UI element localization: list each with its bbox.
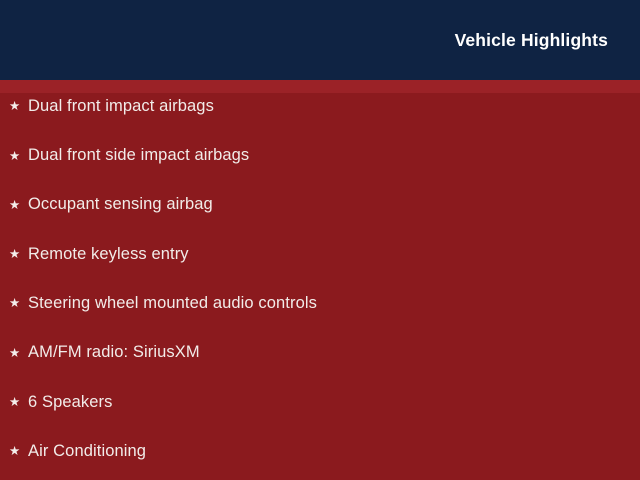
list-item-label: Occupant sensing airbag <box>28 196 213 213</box>
page-title: Vehicle Highlights <box>455 32 608 50</box>
list-item: ★Occupant sensing airbag <box>9 194 213 216</box>
star-bullet-icon: ★ <box>9 150 28 163</box>
star-bullet-icon: ★ <box>9 396 28 409</box>
list-item-label: Dual front side impact airbags <box>28 147 249 164</box>
list-item: ★Steering wheel mounted audio controls <box>9 292 317 314</box>
list-item: ★6 Speakers <box>9 391 112 413</box>
list-item: ★Remote keyless entry <box>9 243 189 265</box>
slide-header: Vehicle Highlights <box>0 0 640 80</box>
list-item: ★Dual front impact airbags <box>9 95 214 117</box>
star-bullet-icon: ★ <box>9 199 28 212</box>
list-item-label: Steering wheel mounted audio controls <box>28 295 317 312</box>
list-item-label: Remote keyless entry <box>28 246 189 263</box>
list-item: ★Air Conditioning <box>9 440 146 462</box>
star-bullet-icon: ★ <box>9 445 28 458</box>
star-bullet-icon: ★ <box>9 347 28 360</box>
highlights-panel: ★Dual front impact airbags★Dual front si… <box>0 80 640 480</box>
list-item-label: 6 Speakers <box>28 394 112 411</box>
vehicle-highlights-slide: Vehicle Highlights ★Dual front impact ai… <box>0 0 640 480</box>
list-item-label: AM/FM radio: SiriusXM <box>28 344 200 361</box>
star-bullet-icon: ★ <box>9 297 28 310</box>
star-bullet-icon: ★ <box>9 248 28 261</box>
star-bullet-icon: ★ <box>9 100 28 113</box>
list-item: ★AM/FM radio: SiriusXM <box>9 342 200 364</box>
header-accent-band <box>0 80 640 93</box>
list-item: ★Dual front side impact airbags <box>9 144 249 166</box>
list-item-label: Dual front impact airbags <box>28 98 214 115</box>
list-item-label: Air Conditioning <box>28 443 146 460</box>
